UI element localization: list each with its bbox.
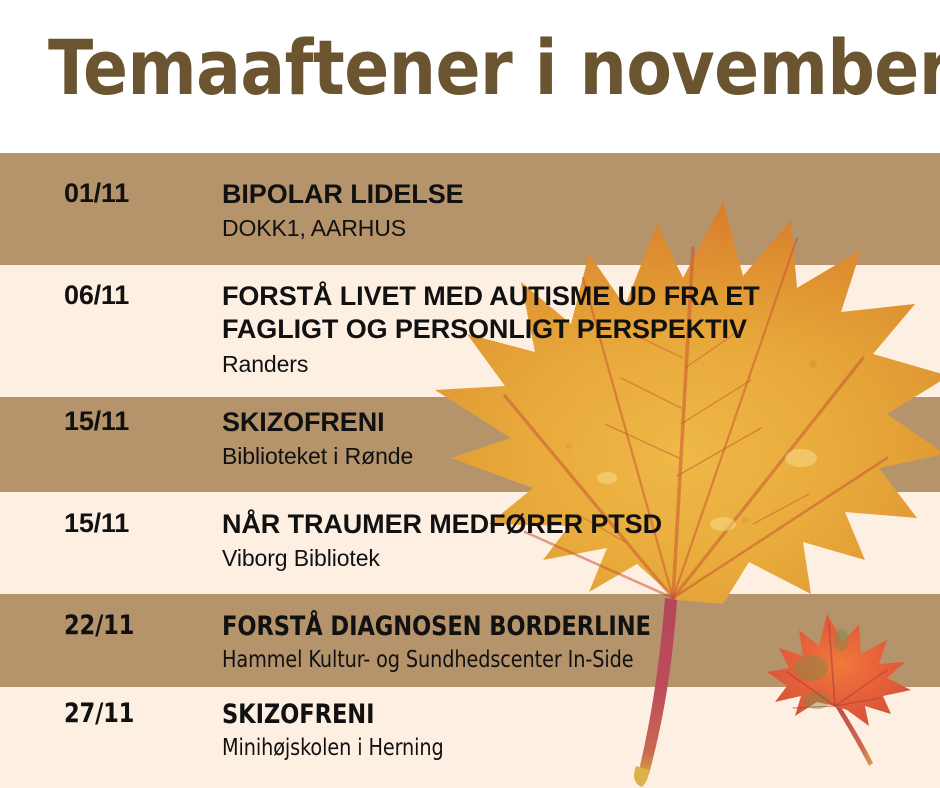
event-date: 01/11 xyxy=(64,178,129,209)
event-venue: Biblioteket i Rønde xyxy=(222,443,922,471)
event-title: SKIZOFRENI xyxy=(222,406,922,439)
page-title: Temaaftener i november xyxy=(48,28,940,108)
event-date: 27/11 xyxy=(64,698,134,729)
event-venue: DOKK1, AARHUS xyxy=(222,215,922,243)
event-title: BIPOLAR LIDELSE xyxy=(222,178,922,211)
event-venue: Hammel Kultur- og Sundhedscenter In-Side xyxy=(222,647,873,675)
event-date: 06/11 xyxy=(64,280,129,311)
event-body: BIPOLAR LIDELSE DOKK1, AARHUS xyxy=(222,178,922,243)
event-venue: Viborg Bibliotek xyxy=(222,545,922,573)
event-body: NÅR TRAUMER MEDFØRER PTSD Viborg Bibliot… xyxy=(222,508,922,573)
event-body: SKIZOFRENI Minihøjskolen i Herning xyxy=(222,698,922,763)
header-band: Temaaftener i november xyxy=(0,0,940,153)
event-title: FORSTÅ DIAGNOSEN BORDERLINE xyxy=(222,610,873,643)
poster-canvas: Temaaftener i november 01/11 BIPOLAR LID… xyxy=(0,0,940,788)
event-date: 22/11 xyxy=(64,610,134,641)
event-body: SKIZOFRENI Biblioteket i Rønde xyxy=(222,406,922,471)
event-body: FORSTÅ LIVET MED AUTISME UD FRA ET FAGLI… xyxy=(222,280,922,379)
event-body: FORSTÅ DIAGNOSEN BORDERLINE Hammel Kultu… xyxy=(222,610,922,675)
event-venue: Minihøjskolen i Herning xyxy=(222,735,873,763)
event-venue: Randers xyxy=(222,351,922,379)
event-date: 15/11 xyxy=(64,406,129,437)
event-title: SKIZOFRENI xyxy=(222,698,873,731)
event-date: 15/11 xyxy=(64,508,129,539)
event-title: FORSTÅ LIVET MED AUTISME UD FRA ET FAGLI… xyxy=(222,280,922,347)
event-title: NÅR TRAUMER MEDFØRER PTSD xyxy=(222,508,922,541)
